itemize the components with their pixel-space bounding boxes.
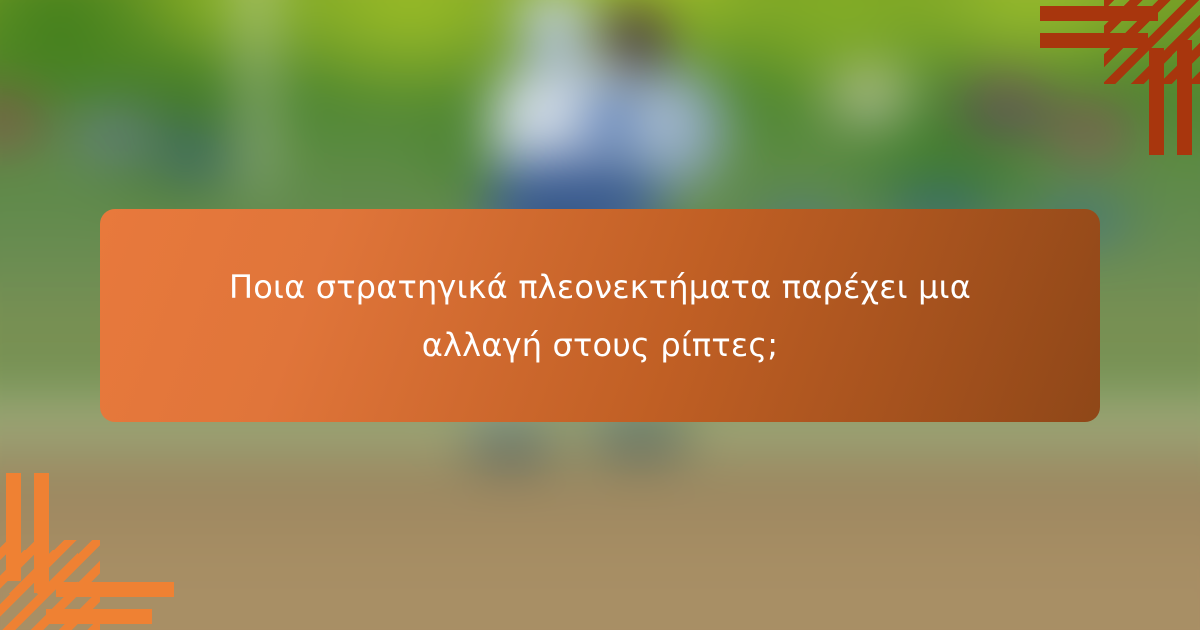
bracket-bar-vertical-3 xyxy=(6,473,21,581)
bracket-bar-horizontal-3 xyxy=(56,582,174,597)
pitcher-glove xyxy=(585,95,637,139)
bracket-bar-vertical-1 xyxy=(1149,48,1164,155)
question-title: Ποια στρατηγικά πλεονεκτήματα παρέχει μι… xyxy=(205,258,995,374)
bracket-bar-vertical-2 xyxy=(1177,40,1192,155)
bracket-bar-horizontal-4 xyxy=(46,609,152,624)
bracket-bar-horizontal-2 xyxy=(1040,33,1148,48)
pitcher-second-head xyxy=(603,2,669,74)
corner-bracket-top-right xyxy=(1030,0,1200,160)
corner-bracket-bottom-left xyxy=(0,465,175,630)
bracket-bar-vertical-4 xyxy=(34,473,49,593)
question-card: Ποια στρατηγικά πλεονεκτήματα παρέχει μι… xyxy=(100,209,1100,422)
share-card-canvas: Ποια στρατηγικά πλεονεκτήματα παρέχει μι… xyxy=(0,0,1200,630)
bracket-bar-horizontal-1 xyxy=(1040,6,1158,21)
